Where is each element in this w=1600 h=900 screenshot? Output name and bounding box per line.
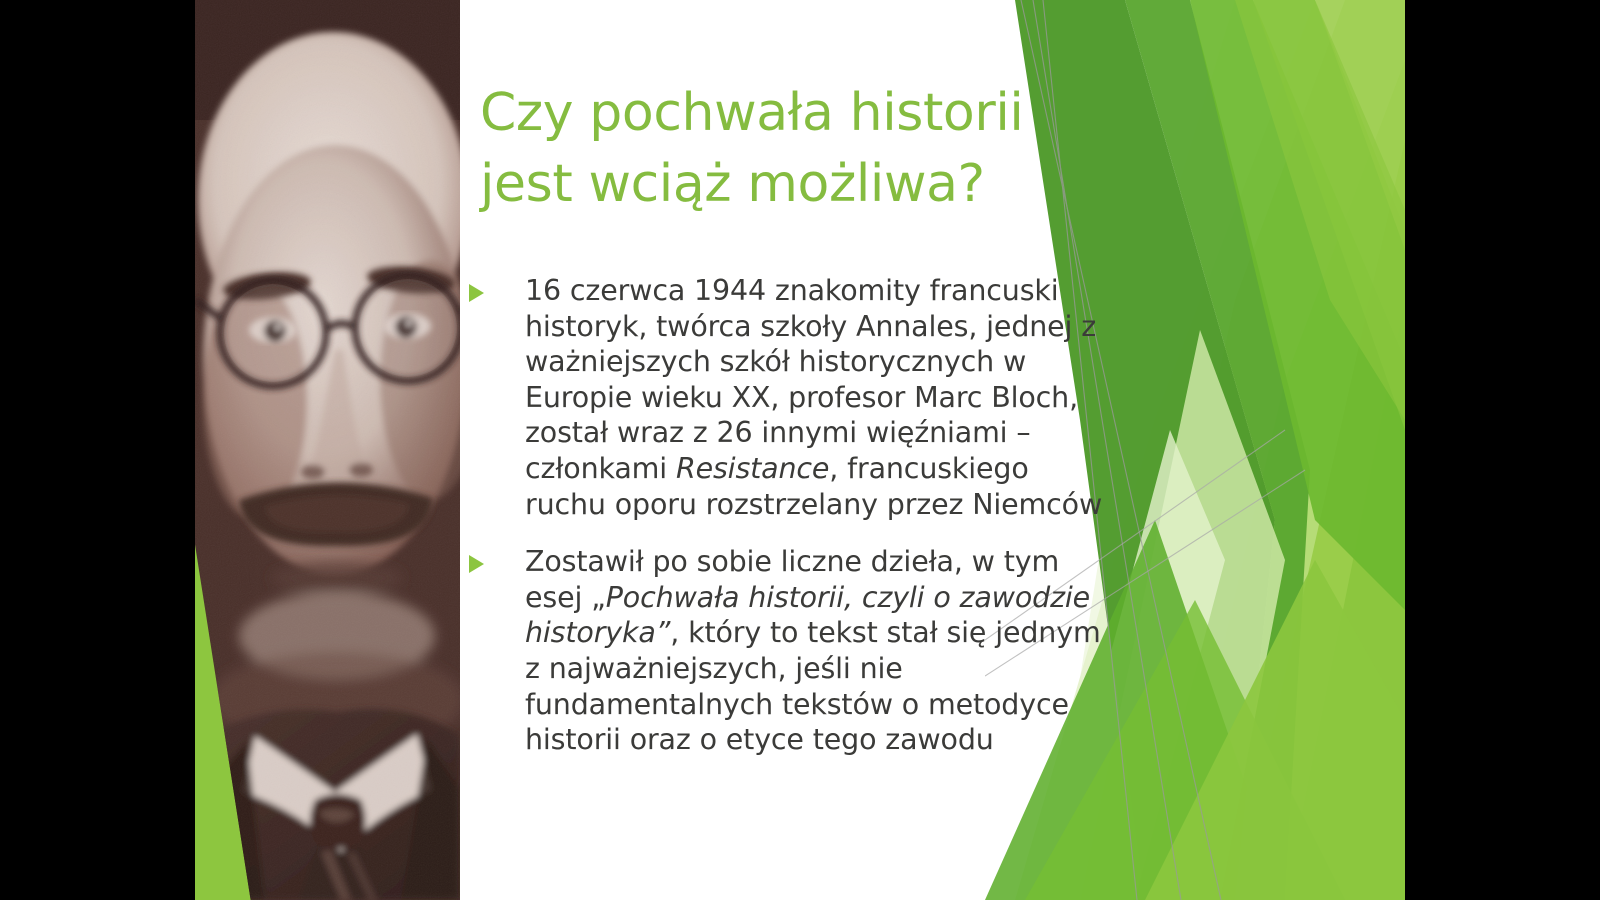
portrait-marc-bloch-image [195,0,460,900]
screenshot-viewport: Czy pochwała historii jest wciąż możliwa… [0,0,1600,900]
bullet-1-segment-2-italic: Resistance [676,452,829,485]
bullet-item-1-text: 16 czerwca 1944 znakomity francuski hist… [525,274,1102,521]
bullet-item-2-text: Zostawił po sobie liczne dzieła, w tym e… [525,545,1101,756]
slide-content-area: Czy pochwała historii jest wciąż możliwa… [460,0,1100,900]
slide-title-line-1: Czy pochwała historii [480,78,1090,149]
bullet-item-2: Zostawił po sobie liczne dzieła, w tym e… [463,544,1103,758]
triangle-right-icon [469,555,484,573]
portrait-photo-clip [195,0,460,900]
slide-title-line-2: jest wciąż możliwa? [480,149,1090,220]
bullet-item-1: 16 czerwca 1944 znakomity francuski hist… [463,273,1103,522]
slide-title: Czy pochwała historii jest wciąż możliwa… [480,78,1090,220]
letterbox-left [0,0,195,900]
bullet-list: 16 czerwca 1944 znakomity francuski hist… [463,273,1103,780]
triangle-right-icon [469,284,484,302]
portrait-photo-container [195,0,460,900]
presentation-slide: Czy pochwała historii jest wciąż możliwa… [195,0,1405,900]
letterbox-right [1405,0,1600,900]
